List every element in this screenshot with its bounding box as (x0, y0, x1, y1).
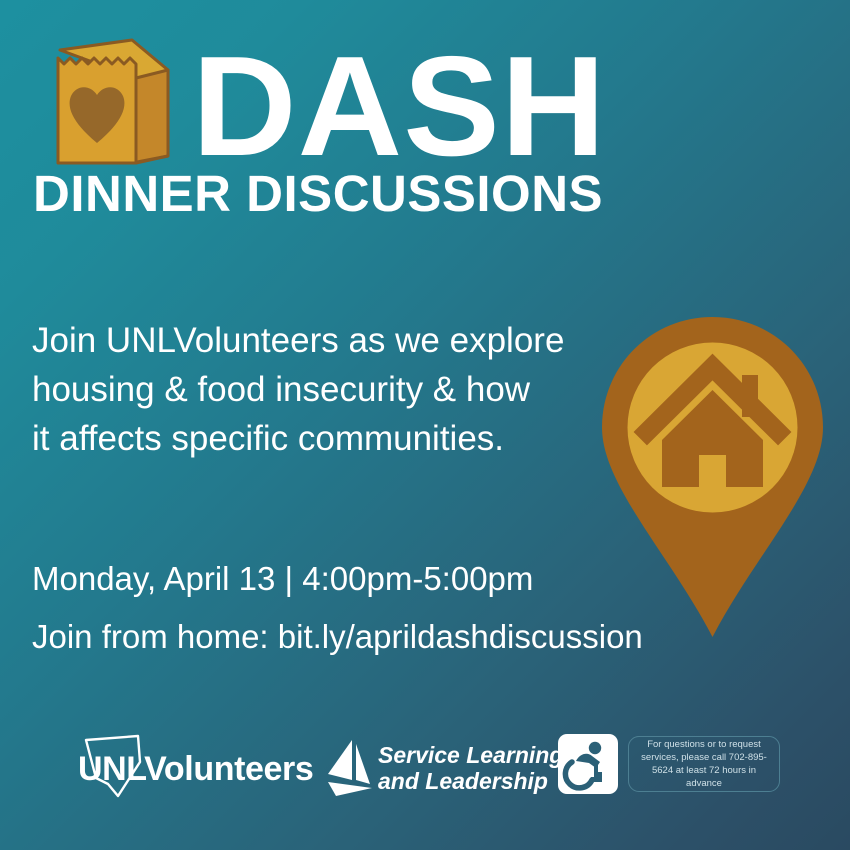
description-line-1: Join UNLVolunteers as we explore (32, 316, 617, 365)
sll-line-1: Service Learning (378, 742, 563, 768)
service-learning-wordmark: Service Learning and Leadership (378, 742, 563, 794)
accessibility-note-text: For questions or to request services, pl… (635, 738, 773, 790)
triangle-prism-icon (322, 736, 378, 806)
unlvolunteers-logo: UNLVolunteers (78, 732, 278, 804)
unlv-word-part2: Volunteers (144, 750, 313, 788)
service-learning-logo: Service Learning and Leadership (322, 730, 522, 804)
paper-bag-heart-icon (36, 28, 186, 173)
wheelchair-accessible-icon (558, 734, 618, 794)
footer-logos: UNLVolunteers Service Learning and Leade… (0, 722, 850, 822)
description-line-3: it affects specific communities. (32, 414, 617, 463)
poster-canvas: DASH DINNER DISCUSSIONS Join UNLVoluntee… (0, 0, 850, 850)
event-join-link[interactable]: Join from home: bit.ly/aprildashdiscussi… (32, 620, 643, 653)
page-title: DASH (192, 36, 606, 178)
unlvolunteers-wordmark: UNLVolunteers (78, 750, 313, 789)
event-datetime: Monday, April 13 | 4:00pm-5:00pm (32, 562, 533, 595)
unlv-word-part1: UNL (78, 750, 144, 788)
page-subtitle: DINNER DISCUSSIONS (33, 168, 603, 219)
accessibility-note: For questions or to request services, pl… (628, 736, 780, 792)
location-pin-house-icon (600, 315, 825, 640)
sll-line-2: and Leadership (378, 768, 563, 794)
description-line-2: housing & food insecurity & how (32, 365, 617, 414)
description-text: Join UNLVolunteers as we explore housing… (32, 316, 617, 463)
